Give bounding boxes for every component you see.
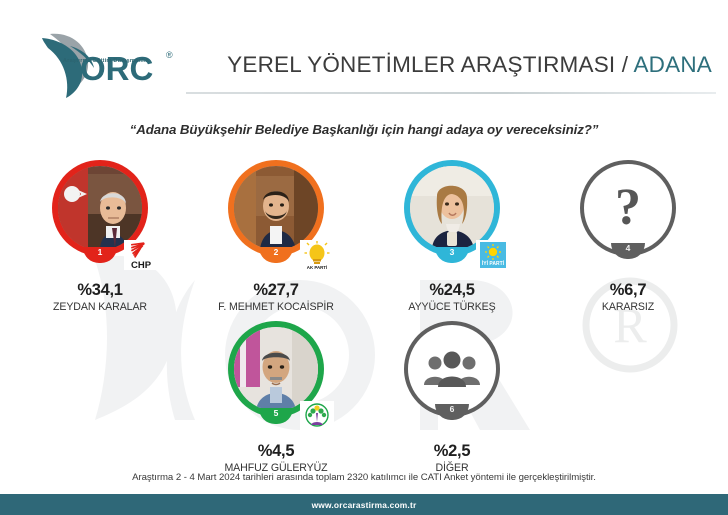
- candidate-name-2: F. MEHMET KOCAİSPİR: [218, 301, 334, 313]
- candidate-name-1: ZEYDAN KARALAR: [53, 301, 147, 313]
- website-url: www.orcarastirma.com.tr: [312, 500, 417, 510]
- undecided-ring: ? 4: [580, 160, 676, 256]
- candidate-rank-3: 3: [435, 247, 469, 263]
- candidate-photo-1: [58, 166, 142, 250]
- candidate-percent-3: %24,5: [429, 281, 474, 300]
- svg-text:İYİ PARTİ: İYİ PARTİ: [482, 260, 505, 267]
- candidate-portrait-2: 2: [224, 160, 328, 272]
- undecided-icon-wrap: ?: [586, 166, 670, 250]
- page-title-main: YEREL YÖNETİMLER ARAŞTIRMASI /: [227, 52, 633, 77]
- other-icon-wrap: [410, 327, 494, 411]
- results-row-2: 5: [0, 321, 728, 474]
- candidate-rank-4: 4: [611, 243, 645, 259]
- candidate-card-2[interactable]: 2: [200, 160, 352, 313]
- candidate-percent-4: %6,7: [610, 281, 646, 300]
- people-group-icon: [422, 349, 482, 389]
- page-title-city: ADANA: [633, 52, 712, 77]
- other-ring: 6: [404, 321, 500, 417]
- candidate-card-3[interactable]: 3: [376, 160, 528, 313]
- iyiparti-logo: İYİ PARTİ: [476, 240, 510, 270]
- orc-logo-tagline: Araştırma Eğitim Danışmanlık: [46, 58, 166, 64]
- candidate-portrait-4: ? 4: [576, 160, 680, 272]
- question-mark-icon: ?: [615, 182, 641, 234]
- website-bar[interactable]: www.orcarastirma.com.tr: [0, 494, 728, 515]
- candidate-rank-5: 5: [259, 408, 293, 424]
- svg-text:CHP: CHP: [131, 260, 152, 270]
- candidate-card-5[interactable]: 5: [200, 321, 352, 474]
- akparti-logo: AK PARTİ: [300, 240, 334, 270]
- candidate-card-4[interactable]: ? 4 %6,7 KARARSIZ: [552, 160, 704, 313]
- survey-question: “Adana Büyükşehir Belediye Başkanlığı iç…: [0, 122, 728, 137]
- svg-text:AK PARTİ: AK PARTİ: [307, 265, 327, 270]
- results-grid: 1: [0, 160, 728, 474]
- header-divider: [186, 92, 716, 94]
- page-title: YEREL YÖNETİMLER ARAŞTIRMASI / ADANA: [196, 52, 712, 78]
- candidate-name-3: AYYÜCE TÜRKEŞ: [408, 301, 495, 313]
- poster-header: ORC ® Araştırma Eğitim Danışmanlık YEREL…: [0, 0, 728, 108]
- svg-text:ORC: ORC: [80, 50, 153, 87]
- candidate-portrait-5: 5: [224, 321, 328, 433]
- candidate-portrait-1: 1: [48, 160, 152, 272]
- candidate-photo-3: [410, 166, 494, 250]
- dem-parti-logo: [300, 401, 334, 431]
- candidate-portrait-3: 3: [400, 160, 504, 272]
- svg-text:®: ®: [166, 50, 173, 60]
- candidate-photo-5: [234, 327, 318, 411]
- candidate-percent-6: %2,5: [434, 442, 470, 461]
- candidate-card-6[interactable]: 6 %2,5 DİĞER: [376, 321, 528, 474]
- candidate-card-1[interactable]: 1: [24, 160, 176, 313]
- candidate-percent-2: %27,7: [253, 281, 298, 300]
- candidate-percent-5: %4,5: [258, 442, 294, 461]
- candidate-percent-1: %34,1: [77, 281, 122, 300]
- chp-logo: CHP: [124, 240, 158, 270]
- candidate-name-4: KARARSIZ: [602, 301, 654, 313]
- candidate-rank-1: 1: [83, 247, 117, 263]
- candidate-rank-6: 6: [435, 404, 469, 420]
- orc-logo: ORC ®: [26, 28, 186, 100]
- results-row-1: 1: [0, 160, 728, 313]
- poll-result-poster: R ORC ® Araştırma Eğitim Danışmanlık YER…: [0, 0, 728, 515]
- methodology-note: Araştırma 2 - 4 Mart 2024 tarihleri aras…: [0, 472, 728, 483]
- candidate-rank-2: 2: [259, 247, 293, 263]
- candidate-portrait-6: 6: [400, 321, 504, 433]
- candidate-photo-2: [234, 166, 318, 250]
